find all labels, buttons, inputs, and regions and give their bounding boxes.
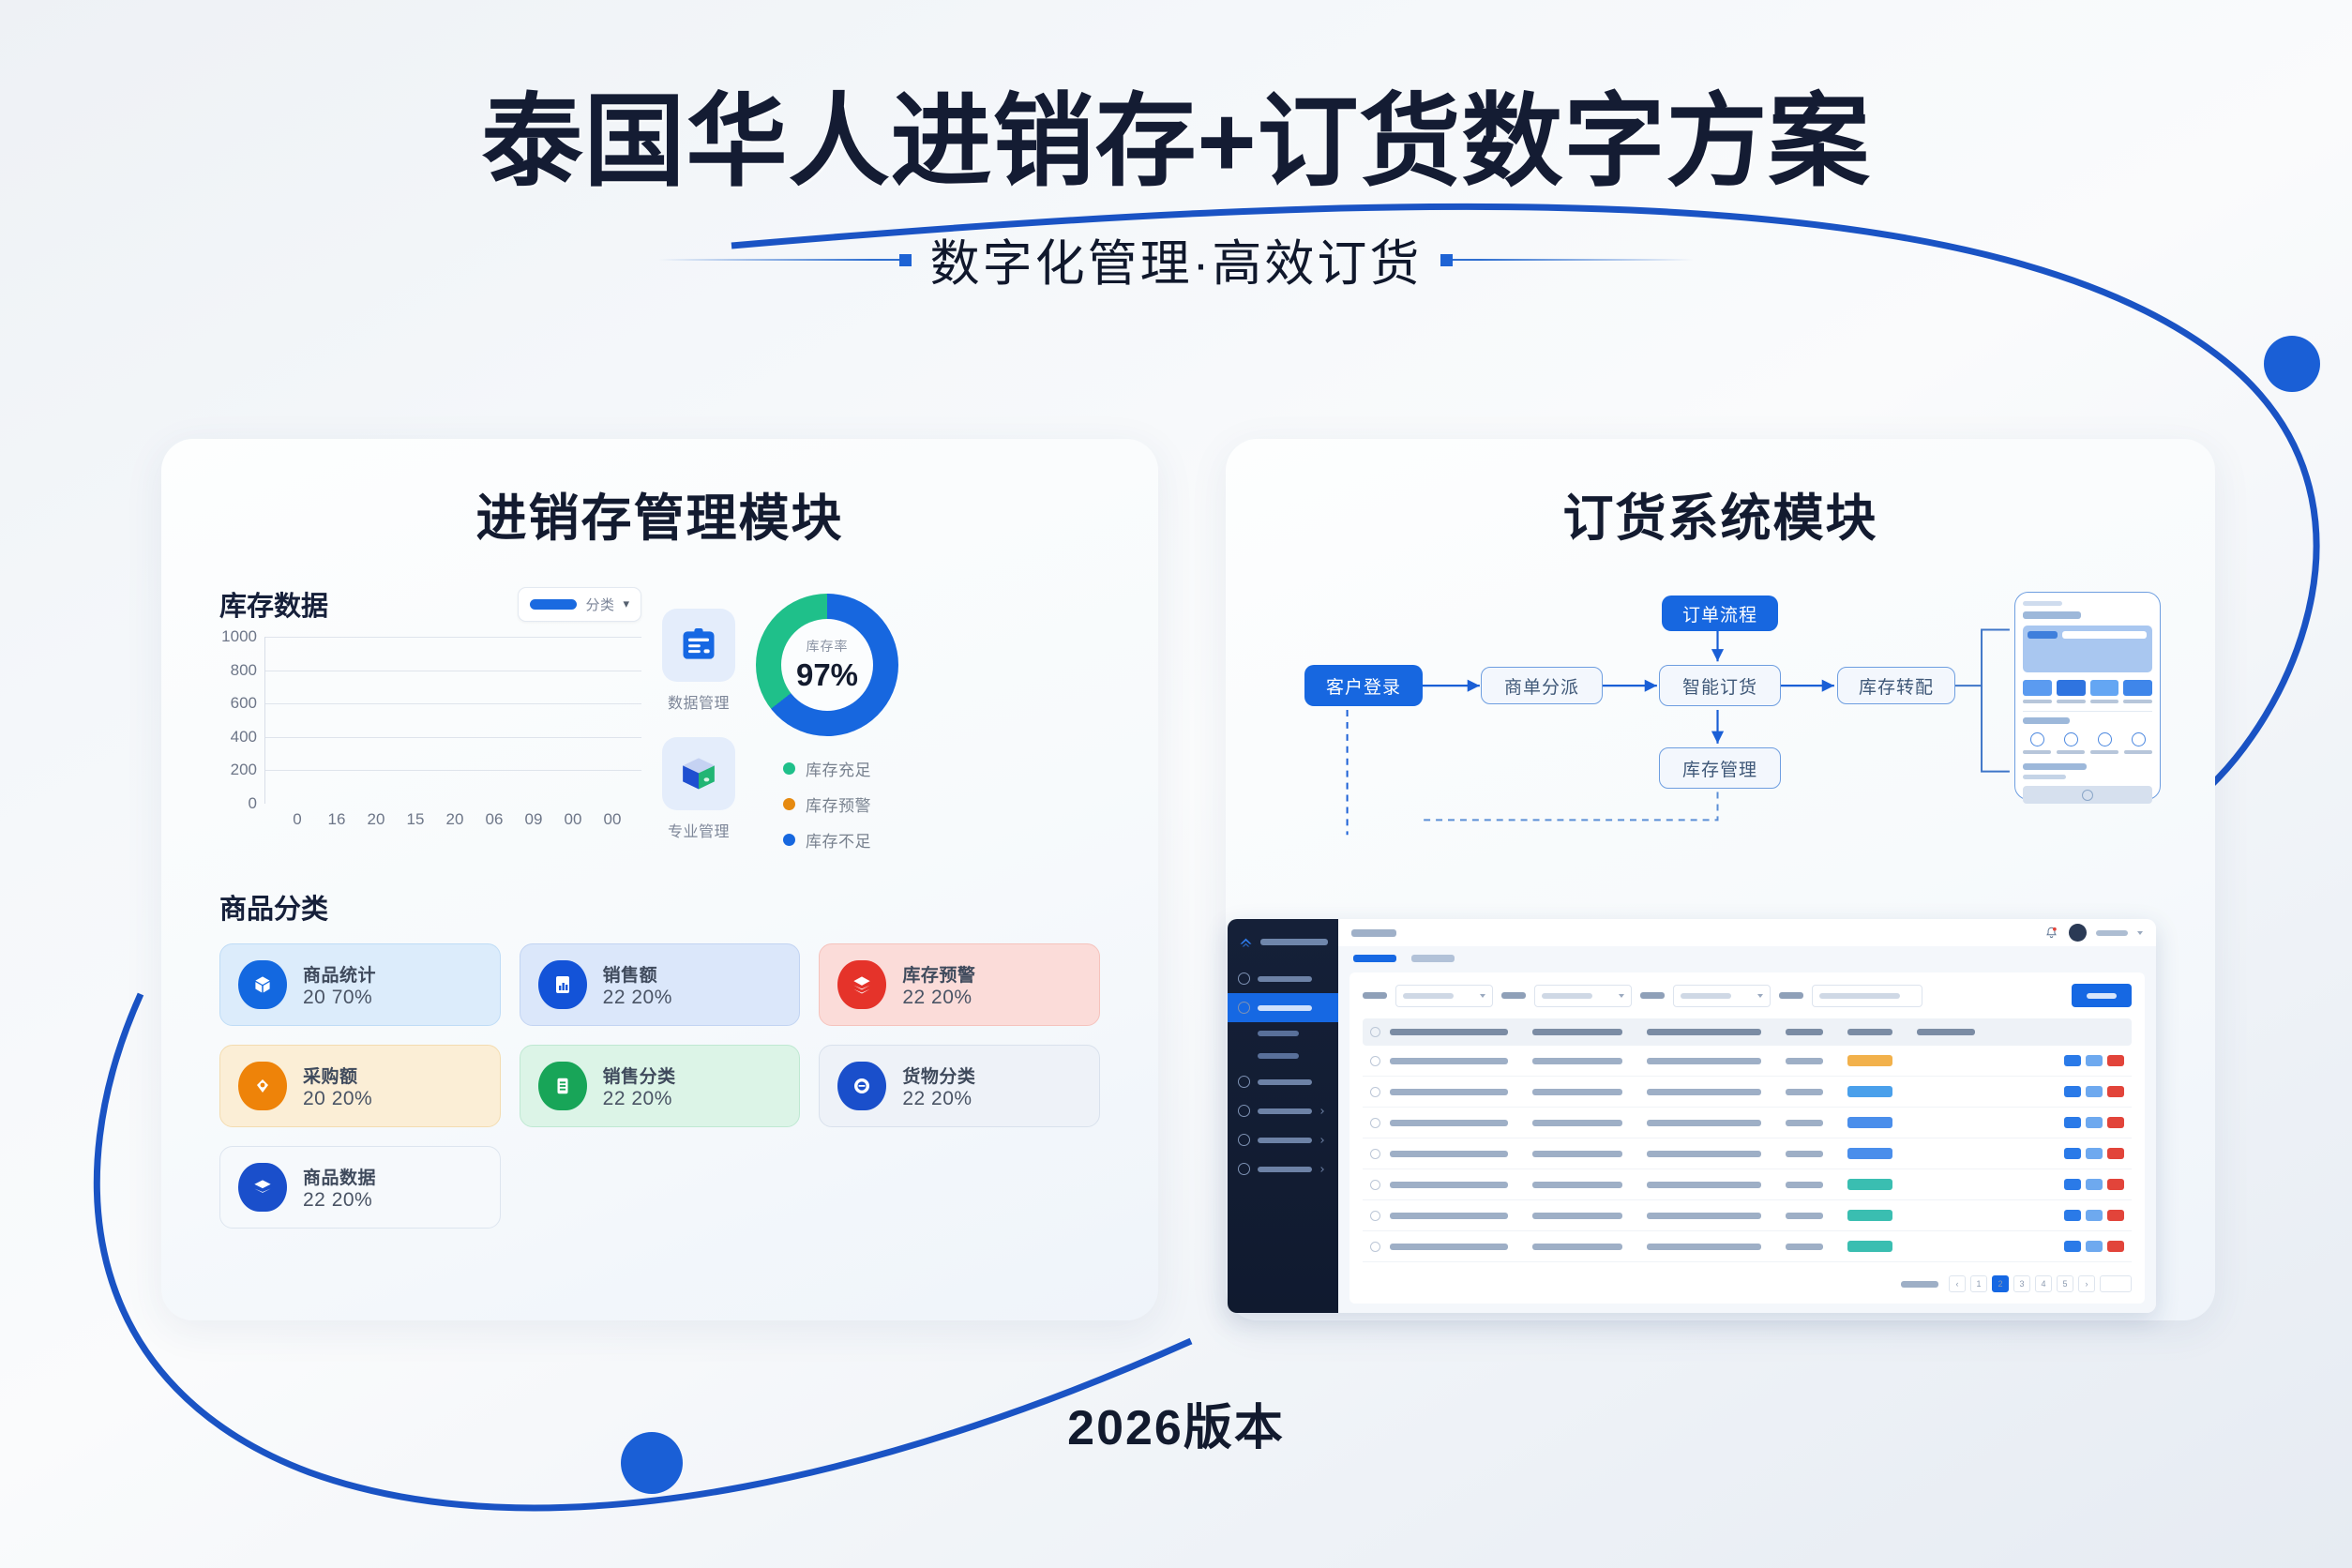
phone-tile[interactable] xyxy=(2057,680,2086,703)
category-card[interactable]: 货物分类22 20% xyxy=(819,1045,1100,1127)
row-checkbox[interactable] xyxy=(1370,1149,1380,1159)
card-order-module: 订货系统模块 订单流程 客户登录 商单分派 xyxy=(1226,439,2215,1320)
phone-home-indicator xyxy=(2023,786,2152,804)
sidebar-item-label xyxy=(1258,1138,1312,1143)
phone-banner xyxy=(2023,626,2152,672)
phone-circle-item[interactable] xyxy=(2090,732,2118,754)
subtitle-square-left xyxy=(899,254,912,266)
donut-legend: 库存充足库存预警库存不足 xyxy=(783,757,871,852)
chart-legend-dropdown[interactable]: 分类 ▾ xyxy=(518,587,641,622)
dashboard-logo xyxy=(1228,931,1338,964)
chart-bars xyxy=(265,637,641,804)
category-card[interactable]: 销售分类22 20% xyxy=(520,1045,801,1127)
x-axis-tick: 20 xyxy=(364,810,388,829)
cell-product xyxy=(1647,1182,1761,1188)
list-icon xyxy=(538,1062,587,1110)
column-header-order-no xyxy=(1390,1029,1508,1035)
sidebar-item-label xyxy=(1258,1005,1312,1011)
subtitle-row: 数字化管理·高效订货 xyxy=(0,224,2352,295)
sidebar-item-3[interactable] xyxy=(1228,1045,1338,1067)
category-name: 货物分类 xyxy=(902,1067,975,1087)
status-badge xyxy=(1847,1117,1892,1128)
flow-node-order-dispatch[interactable]: 商单分派 xyxy=(1481,667,1603,704)
legend-text: 库存预警 xyxy=(806,792,871,816)
column-header-qty xyxy=(1786,1029,1823,1035)
table-row[interactable] xyxy=(1363,1077,2132,1108)
status-badge xyxy=(1847,1179,1892,1190)
search-input[interactable] xyxy=(1812,985,1922,1007)
page-5[interactable]: 5 xyxy=(2057,1275,2073,1292)
card-title-left: 进销存管理模块 xyxy=(203,476,1117,550)
phone-footer-title xyxy=(2023,763,2087,770)
dashboard-tabs xyxy=(1338,946,2156,969)
categories-title: 商品分类 xyxy=(219,887,1117,927)
legend-text: 库存不足 xyxy=(806,828,871,852)
x-axis-tick: 00 xyxy=(600,810,625,829)
y-axis-tick: 400 xyxy=(231,728,257,746)
status-badge xyxy=(1847,1210,1892,1221)
category-percent: 20 70% xyxy=(303,987,372,1008)
sidebar-item-6[interactable] xyxy=(1228,1125,1338,1154)
menu-icon xyxy=(1238,1076,1250,1088)
cell-customer xyxy=(1532,1058,1622,1064)
phone-icon-row xyxy=(2023,732,2152,754)
dashboard-sidebar xyxy=(1228,919,1338,1313)
table-row[interactable] xyxy=(1363,1200,2132,1231)
deco-dot-top-right xyxy=(2264,336,2320,392)
phone-home-circle xyxy=(2082,790,2093,801)
chart-x-axis-labels: 01620152006090000 xyxy=(264,804,641,829)
action-delete[interactable] xyxy=(2107,1179,2124,1190)
x-axis-tick: 00 xyxy=(561,810,585,829)
action-edit[interactable] xyxy=(2086,1148,2103,1159)
categories-grid: 商品统计20 70%销售额22 20%库存预警22 20%采购额20 20%销售… xyxy=(203,943,1117,1229)
category-percent: 22 20% xyxy=(603,987,672,1008)
subtitle-rule-left xyxy=(658,259,910,261)
action-view[interactable] xyxy=(2064,1179,2081,1190)
legend-dot xyxy=(783,762,795,775)
legend-text: 库存充足 xyxy=(806,757,871,780)
action-edit[interactable] xyxy=(2086,1179,2103,1190)
inventory-icon-tiles: 数据管理 专业管理 xyxy=(662,584,735,852)
page-1[interactable]: 1 xyxy=(1970,1275,1987,1292)
table-body xyxy=(1363,1046,2132,1262)
table-row[interactable] xyxy=(1363,1138,2132,1169)
row-checkbox[interactable] xyxy=(1370,1118,1380,1128)
flow-node-stock-manage[interactable]: 库存管理 xyxy=(1659,747,1781,789)
y-axis-tick: 800 xyxy=(231,661,257,680)
action-view[interactable] xyxy=(2064,1055,2081,1066)
action-view[interactable] xyxy=(2064,1241,2081,1252)
pagination-total xyxy=(1901,1281,1938,1288)
status-badge xyxy=(1847,1241,1892,1252)
cell-customer xyxy=(1532,1182,1622,1188)
sidebar-item-label xyxy=(1258,1167,1312,1172)
sidebar-item-label xyxy=(1258,1079,1312,1085)
cell-product xyxy=(1647,1244,1761,1250)
x-axis-tick: 09 xyxy=(521,810,546,829)
phone-quick-tiles xyxy=(2023,680,2152,703)
grid-line xyxy=(265,703,641,704)
table-header-row xyxy=(1363,1018,2132,1046)
row-actions xyxy=(2064,1179,2124,1190)
action-delete[interactable] xyxy=(2107,1055,2124,1066)
page-4[interactable]: 4 xyxy=(2035,1275,2052,1292)
table-row[interactable] xyxy=(1363,1108,2132,1138)
doc-chart-icon xyxy=(538,960,587,1009)
x-axis-tick: 15 xyxy=(403,810,428,829)
cell-product xyxy=(1647,1120,1761,1126)
phone-circle-item[interactable] xyxy=(2124,732,2152,754)
page-subtitle: 数字化管理·高效订货 xyxy=(930,224,1423,295)
menu-icon xyxy=(1238,1002,1250,1014)
phone-tile[interactable] xyxy=(2090,680,2119,703)
cell-qty xyxy=(1786,1089,1823,1095)
legend-label: 分类 xyxy=(585,595,614,614)
icon-tile-box3d[interactable]: 专业管理 xyxy=(662,737,735,841)
sidebar-item-label xyxy=(1258,1053,1299,1059)
row-checkbox[interactable] xyxy=(1370,1180,1380,1190)
grid-line xyxy=(265,671,641,671)
order-flow-diagram: 订单流程 客户登录 商单分派 智能订货 库存转配 库存管理 xyxy=(1273,584,2168,837)
subtitle-square-right xyxy=(1440,254,1453,266)
category-card[interactable]: 商品数据22 20% xyxy=(219,1146,501,1229)
donut-legend-item: 库存不足 xyxy=(783,828,871,852)
mobile-app-mockup xyxy=(2014,592,2161,800)
filter-select-3[interactable] xyxy=(1673,985,1771,1007)
grid-line xyxy=(265,770,641,771)
page-jump[interactable] xyxy=(2100,1275,2132,1292)
cell-customer xyxy=(1532,1151,1622,1157)
action-view[interactable] xyxy=(2064,1148,2081,1159)
donut-center-label: 库存率 xyxy=(807,637,849,656)
filter-label xyxy=(1779,992,1803,999)
phone-footer-sub xyxy=(2023,775,2066,779)
cell-order-no xyxy=(1390,1244,1508,1250)
donut-center: 库存率 97% xyxy=(756,594,898,736)
layers-icon xyxy=(837,960,886,1009)
chevron-up-logo-icon xyxy=(1238,934,1254,950)
chevron-right-icon xyxy=(1319,1138,1324,1143)
filter-select-2[interactable] xyxy=(1534,985,1632,1007)
flow-node-stock-transfer[interactable]: 库存转配 xyxy=(1837,667,1955,704)
inventory-bar-chart: 库存数据 分类 ▾ 10008006004002000 016201520060… xyxy=(219,584,641,852)
select-all-checkbox[interactable] xyxy=(1370,1027,1380,1037)
cell-qty xyxy=(1786,1182,1823,1188)
cell-order-no xyxy=(1390,1058,1508,1064)
legend-dot xyxy=(783,798,795,810)
filter-bar xyxy=(1363,984,2132,1007)
sidebar-item-4[interactable] xyxy=(1228,1067,1338,1096)
cell-qty xyxy=(1786,1244,1823,1250)
chevron-down-icon: ▾ xyxy=(623,596,629,611)
stack-icon xyxy=(238,1163,287,1212)
category-card[interactable]: 商品统计20 70% xyxy=(219,943,501,1026)
row-actions xyxy=(2064,1055,2124,1066)
category-percent: 22 20% xyxy=(902,987,972,1008)
cell-qty xyxy=(1786,1151,1823,1157)
chart-title: 库存数据 xyxy=(219,584,328,624)
column-header-status xyxy=(1847,1029,1892,1035)
y-axis-tick: 0 xyxy=(249,794,257,813)
page-header: 泰国华人进销存+订货数字方案 数字化管理·高效订货 xyxy=(0,86,2352,295)
x-axis-tick: 06 xyxy=(482,810,506,829)
category-card[interactable]: 销售额22 20% xyxy=(520,943,801,1026)
action-delete[interactable] xyxy=(2107,1117,2124,1128)
page-prev[interactable]: ‹ xyxy=(1949,1275,1966,1292)
action-delete[interactable] xyxy=(2107,1241,2124,1252)
column-header-product xyxy=(1647,1029,1761,1035)
category-name: 库存预警 xyxy=(902,966,975,986)
dashboard-main: ‹ 1 2 3 4 5 › xyxy=(1338,919,2156,1313)
table-row[interactable] xyxy=(1363,1046,2132,1077)
cell-order-no xyxy=(1390,1151,1508,1157)
order-dashboard-mockup: ‹ 1 2 3 4 5 › xyxy=(1228,919,2156,1313)
page-title: 泰国华人进销存+订货数字方案 xyxy=(0,86,2352,198)
flow-node-smart-order[interactable]: 智能订货 xyxy=(1659,665,1781,706)
coin-icon xyxy=(837,1062,886,1110)
chart-plot-area: 10008006004002000 xyxy=(264,637,641,804)
action-edit[interactable] xyxy=(2086,1055,2103,1066)
cell-qty xyxy=(1786,1058,1823,1064)
avatar[interactable] xyxy=(2069,924,2087,942)
sidebar-item-5[interactable] xyxy=(1228,1096,1338,1125)
row-checkbox[interactable] xyxy=(1370,1056,1380,1066)
card-inventory-module: 进销存管理模块 库存数据 分类 ▾ 10008006004002000 0162… xyxy=(161,439,1158,1320)
action-delete[interactable] xyxy=(2107,1210,2124,1221)
action-edit[interactable] xyxy=(2086,1210,2103,1221)
dashboard-topbar xyxy=(1338,919,2156,946)
x-axis-tick: 20 xyxy=(443,810,467,829)
donut-center-value: 97% xyxy=(796,657,858,693)
cell-customer xyxy=(1532,1244,1622,1250)
tab-active[interactable] xyxy=(1353,955,1396,962)
action-edit[interactable] xyxy=(2086,1241,2103,1252)
cell-order-no xyxy=(1390,1213,1508,1219)
page-current[interactable]: 2 xyxy=(1992,1275,2009,1292)
cell-product xyxy=(1647,1151,1761,1157)
tab-secondary[interactable] xyxy=(1411,955,1455,962)
phone-status-bar xyxy=(2023,601,2062,606)
action-view[interactable] xyxy=(2064,1210,2081,1221)
icon-tile-label-1: 专业管理 xyxy=(662,819,735,841)
category-percent: 22 20% xyxy=(902,1088,972,1109)
category-card[interactable]: 采购额20 20% xyxy=(219,1045,501,1127)
page-next[interactable]: › xyxy=(2078,1275,2095,1292)
row-actions xyxy=(2064,1210,2124,1221)
category-percent: 22 20% xyxy=(303,1189,372,1211)
phone-tile[interactable] xyxy=(2023,680,2052,703)
menu-icon xyxy=(1238,1134,1250,1146)
row-checkbox[interactable] xyxy=(1370,1242,1380,1252)
menu-icon xyxy=(1238,972,1250,985)
grid-line xyxy=(265,737,641,738)
cards-container: 进销存管理模块 库存数据 分类 ▾ 10008006004002000 0162… xyxy=(161,439,2215,1320)
y-axis-tick: 200 xyxy=(231,761,257,779)
category-name: 销售额 xyxy=(603,966,658,986)
category-name: 商品统计 xyxy=(303,966,376,986)
sidebar-item-0[interactable] xyxy=(1228,964,1338,993)
action-view[interactable] xyxy=(2064,1117,2081,1128)
sidebar-item-1[interactable] xyxy=(1228,993,1338,1022)
inventory-widgets-row: 库存数据 分类 ▾ 10008006004002000 016201520060… xyxy=(203,584,1117,852)
table-row[interactable] xyxy=(1363,1231,2132,1262)
cell-customer xyxy=(1532,1120,1622,1126)
status-badge xyxy=(1847,1148,1892,1159)
inventory-donut-chart: 库存率 97% 库存充足库存预警库存不足 xyxy=(756,584,898,852)
dashboard-menu xyxy=(1228,964,1338,1184)
table-row[interactable] xyxy=(1363,1169,2132,1200)
sidebar-item-7[interactable] xyxy=(1228,1154,1338,1184)
cell-product xyxy=(1647,1089,1761,1095)
phone-circle-item[interactable] xyxy=(2057,732,2085,754)
cell-qty xyxy=(1786,1213,1823,1219)
row-actions xyxy=(2064,1086,2124,1097)
sidebar-item-label xyxy=(1258,1108,1312,1114)
column-header-customer xyxy=(1532,1029,1622,1035)
cube-icon xyxy=(238,960,287,1009)
card-title-right: 订货系统模块 xyxy=(1267,476,2174,550)
menu-icon xyxy=(1238,1163,1250,1175)
clipboard-icon xyxy=(662,609,735,682)
page-3[interactable]: 3 xyxy=(2013,1275,2030,1292)
filter-select-1[interactable] xyxy=(1395,985,1493,1007)
sidebar-item-2[interactable] xyxy=(1228,1022,1338,1045)
dashboard-logo-text xyxy=(1260,939,1328,945)
category-card[interactable]: 库存预警22 20% xyxy=(819,943,1100,1026)
donut-legend-item: 库存预警 xyxy=(783,792,871,816)
icon-tile-clipboard[interactable]: 数据管理 xyxy=(662,609,735,713)
subtitle-rule-right xyxy=(1442,259,1694,261)
bell-icon[interactable] xyxy=(2044,926,2059,941)
column-header-actions xyxy=(1917,1029,1975,1035)
status-badge xyxy=(1847,1055,1892,1066)
donut-ring: 库存率 97% xyxy=(756,594,898,736)
action-view[interactable] xyxy=(2064,1086,2081,1097)
action-delete[interactable] xyxy=(2107,1148,2124,1159)
cell-product xyxy=(1647,1058,1761,1064)
cell-qty xyxy=(1786,1120,1823,1126)
action-edit[interactable] xyxy=(2086,1117,2103,1128)
status-badge xyxy=(1847,1086,1892,1097)
tag-icon xyxy=(238,1062,287,1110)
row-actions xyxy=(2064,1148,2124,1159)
legend-dot xyxy=(783,834,795,846)
phone-tile[interactable] xyxy=(2123,680,2152,703)
phone-app-title xyxy=(2023,611,2081,619)
row-checkbox[interactable] xyxy=(1370,1087,1380,1097)
row-checkbox[interactable] xyxy=(1370,1211,1380,1221)
phone-circle-item[interactable] xyxy=(2023,732,2051,754)
chevron-right-icon xyxy=(1319,1167,1324,1172)
category-name: 采购额 xyxy=(303,1067,358,1087)
phone-divider xyxy=(2023,711,2152,712)
chevron-right-icon xyxy=(1319,1108,1324,1114)
dashboard-panel: ‹ 1 2 3 4 5 › xyxy=(1349,972,2145,1304)
cell-product xyxy=(1647,1213,1761,1219)
filter-label xyxy=(1363,992,1387,999)
category-name: 销售分类 xyxy=(603,1067,676,1087)
grid-line xyxy=(265,637,641,638)
category-percent: 20 20% xyxy=(303,1088,372,1109)
flow-node-customer-login[interactable]: 客户登录 xyxy=(1304,665,1423,706)
action-edit[interactable] xyxy=(2086,1086,2103,1097)
y-axis-tick: 1000 xyxy=(221,627,257,646)
row-actions xyxy=(2064,1117,2124,1128)
box-3d-icon xyxy=(662,737,735,810)
filter-label xyxy=(1501,992,1526,999)
icon-tile-label-0: 数据管理 xyxy=(662,690,735,713)
version-label: 2026版本 xyxy=(0,1388,2352,1458)
menu-icon xyxy=(1238,1105,1250,1117)
sidebar-item-label xyxy=(1258,1031,1299,1036)
flow-node-top[interactable]: 订单流程 xyxy=(1662,596,1778,631)
username-label xyxy=(2096,930,2128,936)
category-name: 商品数据 xyxy=(303,1168,376,1188)
cell-customer xyxy=(1532,1089,1622,1095)
breadcrumb xyxy=(1351,929,1396,937)
chevron-down-icon[interactable] xyxy=(2137,931,2143,935)
x-axis-tick: 16 xyxy=(324,810,349,829)
sidebar-item-label xyxy=(1258,976,1312,982)
action-delete[interactable] xyxy=(2107,1086,2124,1097)
cell-customer xyxy=(1532,1213,1622,1219)
chart-header: 库存数据 分类 ▾ xyxy=(219,584,641,624)
pagination: ‹ 1 2 3 4 5 › xyxy=(1363,1262,2132,1292)
cell-order-no xyxy=(1390,1182,1508,1188)
filter-label xyxy=(1640,992,1665,999)
y-axis-tick: 600 xyxy=(231,694,257,713)
search-button[interactable] xyxy=(2072,984,2132,1007)
legend-color-swatch xyxy=(530,599,577,610)
cell-order-no xyxy=(1390,1120,1508,1126)
phone-section-title xyxy=(2023,717,2070,724)
x-axis-tick: 0 xyxy=(285,810,309,829)
row-actions xyxy=(2064,1241,2124,1252)
cell-order-no xyxy=(1390,1089,1508,1095)
category-percent: 22 20% xyxy=(603,1088,672,1109)
donut-legend-item: 库存充足 xyxy=(783,757,871,780)
